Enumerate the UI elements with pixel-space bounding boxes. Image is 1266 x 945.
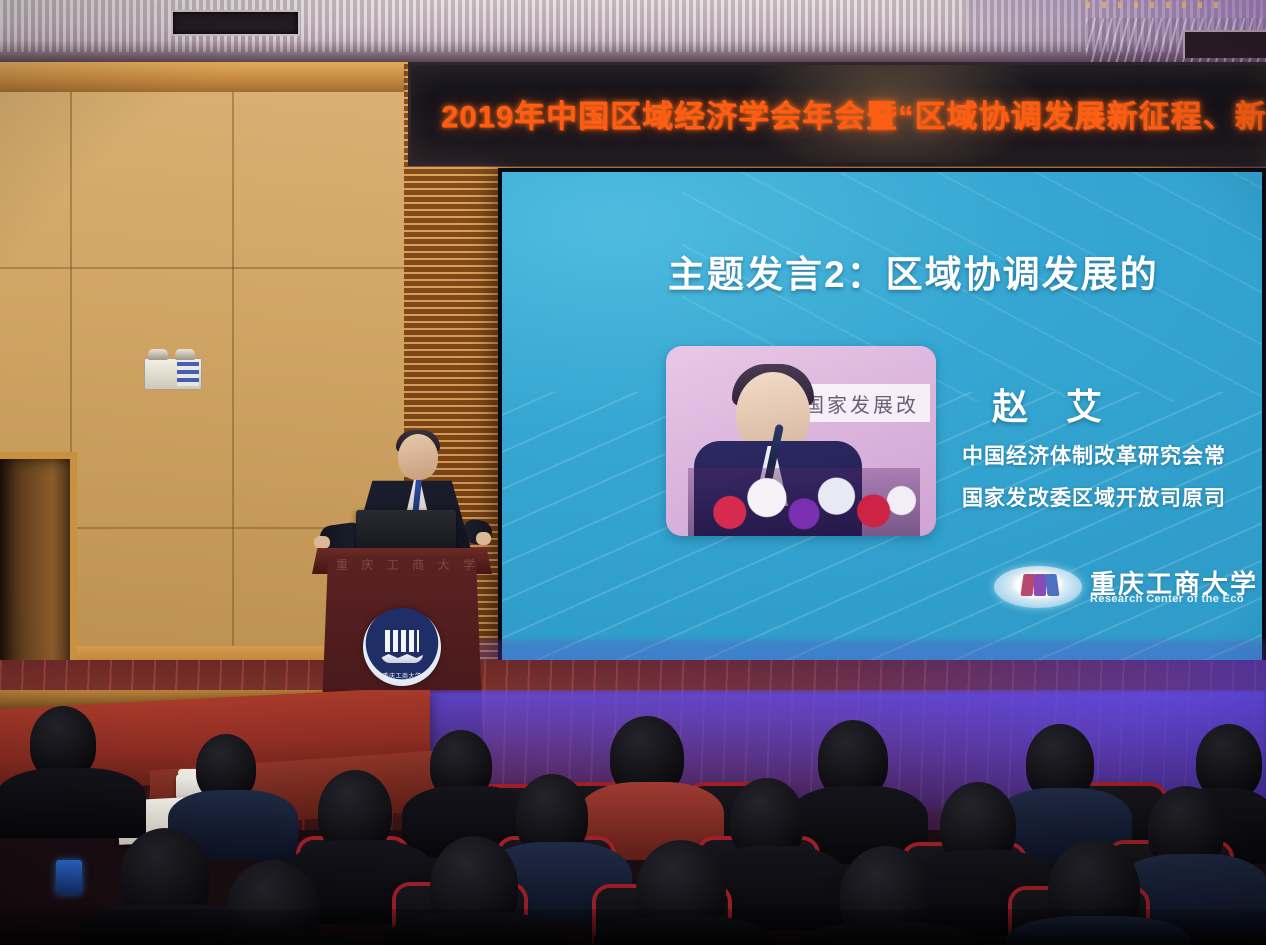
presenter-right-hand: [476, 532, 491, 545]
banner-text: 2019年中国区域经济学会年会暨“区域协调发展新征程、新: [441, 91, 1266, 136]
presenter-head: [398, 434, 438, 480]
podium-laptop: [356, 510, 456, 554]
audience-shoulders: [0, 768, 146, 838]
slide-logo: 重庆工商大学 Research Center of the Eco: [994, 564, 1262, 610]
ceiling-air-vent-right: [1183, 30, 1266, 58]
audience-floor-shadow: [0, 909, 1266, 945]
emblem-ring-text: 重庆工商大学: [363, 671, 441, 680]
slide-title: 主题发言2：区域协调发展的: [668, 244, 1159, 298]
logo-english-name: Research Center of the Eco: [1090, 593, 1244, 605]
flower-arrangement: [688, 468, 920, 536]
slide-speaker-title-1: 中国经济体制改革研究会常: [962, 440, 1226, 470]
university-logo-icon: [994, 566, 1082, 608]
podium-char: 重: [336, 556, 349, 572]
speaker-photo: 国家发展改: [666, 346, 936, 536]
projection-screen: 主题发言2：区域协调发展的 国家发展改 赵 艾 中国经济体制改革研究会常 国家发…: [498, 168, 1266, 676]
podium-front-characters: 重 庆 工 商 大 学: [336, 556, 476, 572]
emblem-wave: [381, 654, 423, 663]
slide-speaker-name: 赵 艾: [992, 378, 1116, 430]
ceiling: [0, 0, 1266, 70]
led-banner: 2019年中国区域经济学会年会暨“区域协调发展新征程、新: [408, 62, 1266, 166]
podium-char: 学: [463, 556, 476, 572]
emergency-light-fixture: [144, 358, 202, 390]
podium-university-emblem: 重庆工商大学: [363, 608, 441, 686]
ceiling-air-vent: [171, 10, 300, 36]
emblem-columns: [385, 630, 419, 652]
slide-speaker-title-2: 国家发改委区域开放司原司: [962, 482, 1226, 512]
wall-trim-top: [0, 62, 404, 92]
presentation-slide: 主题发言2：区域协调发展的 国家发展改 赵 艾 中国经济体制改革研究会常 国家发…: [502, 172, 1262, 672]
photo-background-sign: 国家发展改: [798, 384, 930, 422]
audience-area: [0, 690, 1266, 945]
podium-char: 庆: [361, 556, 374, 572]
podium-char: 商: [412, 556, 425, 572]
ceiling-light-strip: [1086, 2, 1226, 8]
photo-background-sign-text: 国家发展改: [804, 389, 919, 418]
podium-char: 大: [438, 556, 451, 572]
podium-char: 工: [387, 556, 400, 572]
presenter-left-hand: [314, 536, 330, 549]
smartphone: [56, 860, 82, 894]
conference-hall-photo: 2019年中国区域经济学会年会暨“区域协调发展新征程、新 主题发言2：区域协调发…: [0, 0, 1266, 945]
